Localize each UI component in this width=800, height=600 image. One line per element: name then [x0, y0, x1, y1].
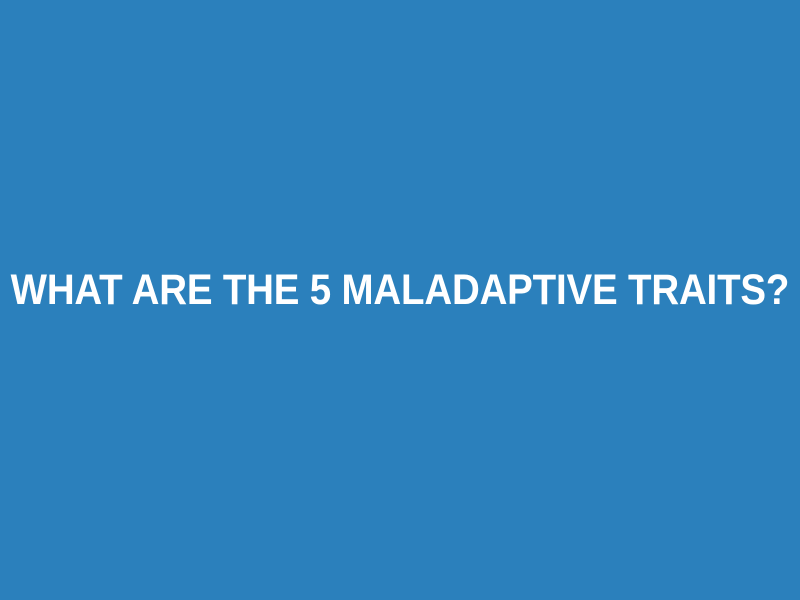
featured-image-card: WHAT ARE THE 5 MALADAPTIVE TRAITS? — [0, 0, 800, 600]
page-title: WHAT ARE THE 5 MALADAPTIVE TRAITS? — [11, 267, 790, 313]
headline-container: WHAT ARE THE 5 MALADAPTIVE TRAITS? — [0, 262, 800, 318]
